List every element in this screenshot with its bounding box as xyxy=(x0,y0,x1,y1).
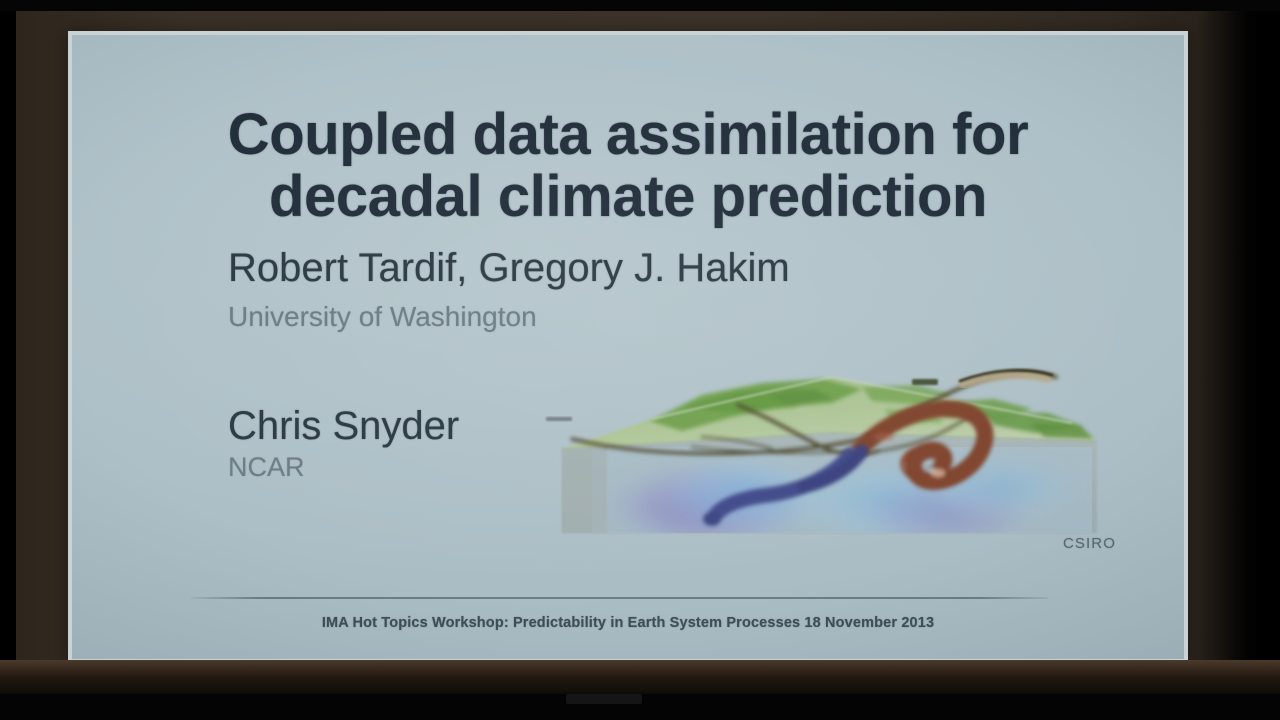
desk-edge-highlight xyxy=(566,694,642,704)
surround-shadow xyxy=(1196,11,1256,675)
figure-credit: CSIRO xyxy=(532,535,1124,552)
title-line-2: decadal climate prediction xyxy=(72,166,1184,228)
ridge-marker xyxy=(912,379,938,385)
author-names: Robert Tardif, Gregory J. Hakim xyxy=(228,244,948,292)
author-affiliation: University of Washington xyxy=(228,298,948,336)
footer-conference-line: IMA Hot Topics Workshop: Predictability … xyxy=(72,615,1184,631)
wall-band-top xyxy=(0,0,1280,11)
left-tick-marker xyxy=(546,417,572,421)
ocean-circulation-svg xyxy=(532,355,1124,555)
title-line-1: Coupled data assimilation for xyxy=(72,104,1184,166)
page-title: Coupled data assimilation for decadal cl… xyxy=(72,104,1184,228)
ocean-circulation-diagram xyxy=(532,355,1124,555)
projector-photo-frame: Coupled data assimilation for decadal cl… xyxy=(0,0,1280,720)
author-group-primary: Robert Tardif, Gregory J. Hakim Universi… xyxy=(228,244,948,336)
footer-divider xyxy=(191,597,1048,599)
presentation-slide: Coupled data assimilation for decadal cl… xyxy=(72,35,1184,659)
